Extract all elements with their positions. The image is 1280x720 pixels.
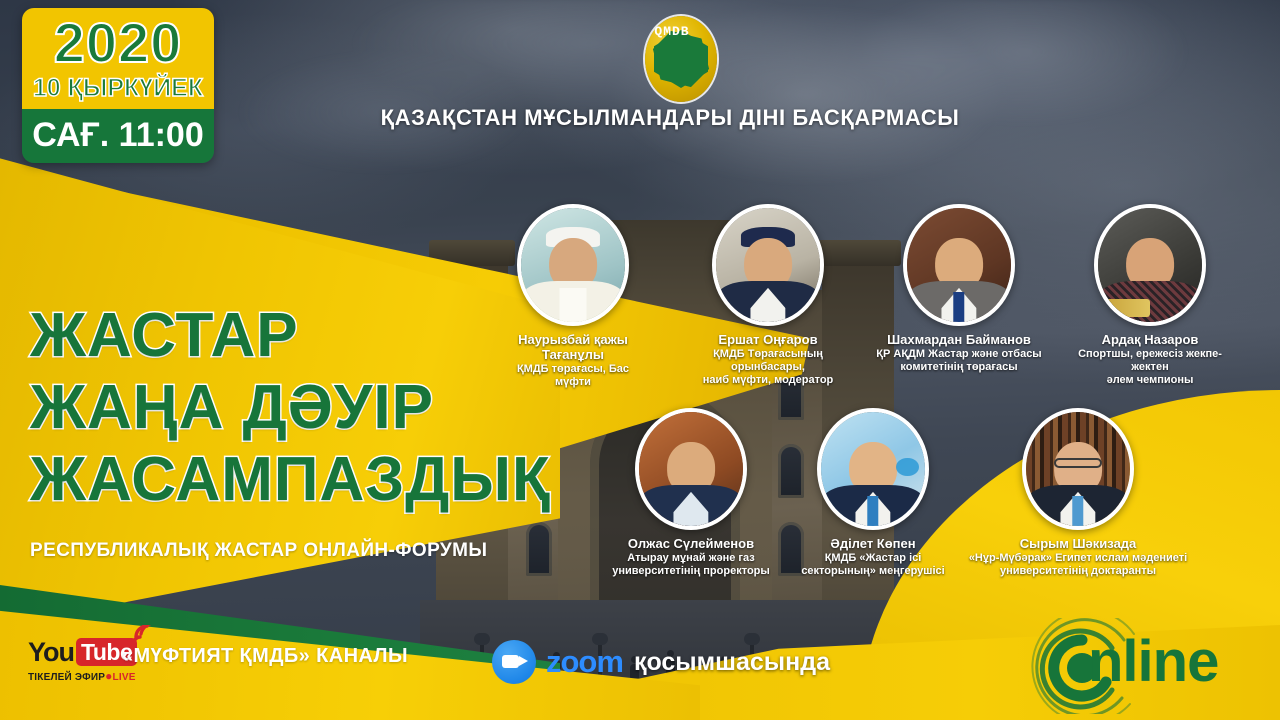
speaker-role: ҚМДБ «Жастар ісі <box>794 552 952 565</box>
speaker-name: Әділет Көпен <box>794 536 952 551</box>
speaker-name: Наурызбай қажы <box>505 332 641 347</box>
event-time: САҒ. 11:00 <box>22 109 214 161</box>
live-broadcast-icon <box>132 625 154 645</box>
headline-line-2: ЖАҢА ДӘУІР <box>30 377 530 439</box>
speaker-role-2: университетінің доктаранты <box>960 565 1196 578</box>
live-text-en: LIVE <box>113 672 136 683</box>
speaker-card: Ершат Оңғаров ҚМДБ Төрағасының орынбасар… <box>688 204 848 387</box>
speaker-name: Ардақ Назаров <box>1065 332 1235 347</box>
speaker-name: Ершат Оңғаров <box>688 332 848 347</box>
speaker-name-2: Тағанұлы <box>505 347 641 362</box>
speaker-card: Ардақ Назаров Спортшы, ережесіз жекпе-же… <box>1065 204 1235 387</box>
avatar <box>903 204 1015 326</box>
zoom-logo-block[interactable]: zoom қосымшасында <box>492 640 830 684</box>
qmdb-logo-icon: QMDB <box>645 16 717 102</box>
speaker-role: ҚР АҚДМ Жастар және отбасы <box>876 348 1042 361</box>
speaker-role-2: наиб мүфти, модератор <box>688 374 848 387</box>
speaker-role: «Нұр-Мүбәрак» Египет ислам мәдениеті <box>960 552 1196 565</box>
avatar <box>1094 204 1206 326</box>
speaker-role: Атырау мұнай және газ <box>608 552 774 565</box>
event-year: 2020 <box>22 12 214 74</box>
headline-subtitle: РЕСПУБЛИКАЛЫҚ ЖАСТАР ОНЛАЙН-ФОРУМЫ <box>30 540 550 562</box>
speaker-card: Шахмардан Байманов ҚР АҚДМ Жастар және о… <box>876 204 1042 374</box>
online-logo-block: nline <box>1026 618 1262 714</box>
avatar <box>635 408 747 530</box>
headline-block: ЖАСТАР ЖАҢА ДӘУІР ЖАСАМПАЗДЫҚ <box>30 305 530 523</box>
speaker-role-2: секторының» меңгерушісі <box>794 565 952 578</box>
speaker-role-2: әлем чемпионы <box>1065 374 1235 387</box>
speaker-role: ҚМДБ төрағасы, Бас мүфти <box>505 363 641 389</box>
zoom-camera-icon <box>492 640 536 684</box>
speaker-card: Олжас Сүлейменов Атырау мұнай және газ у… <box>608 408 774 578</box>
speaker-card: Сырым Шәкизада «Нұр-Мүбәрак» Египет исла… <box>960 408 1196 578</box>
zoom-suffix-label: қосымшасында <box>634 648 830 677</box>
speaker-role: ҚМДБ Төрағасының орынбасары, <box>688 348 848 374</box>
speaker-role-2: комитетінің төрағасы <box>876 361 1042 374</box>
live-text-kk: ТІКЕЛЕЙ ЭФИР <box>28 672 105 683</box>
speaker-name: Сырым Шәкизада <box>960 536 1196 551</box>
date-badge-bottom: САҒ. 11:00 <box>22 109 214 163</box>
speaker-card: Әділет Көпен ҚМДБ «Жастар ісі секторының… <box>794 408 952 578</box>
event-date-badge: 2020 10 ҚЫРКҮЙЕК САҒ. 11:00 <box>22 8 214 163</box>
headline-line-3: ЖАСАМПАЗДЫҚ <box>30 449 530 511</box>
youtube-you-text: You <box>28 639 74 666</box>
avatar <box>517 204 629 326</box>
qmdb-logo-monogram: QMDB <box>645 25 699 39</box>
avatar <box>712 204 824 326</box>
avatar <box>1022 408 1134 530</box>
youtube-live-label: ТІКЕЛЕЙ ЭФИР●LIVE <box>28 669 138 683</box>
avatar <box>817 408 929 530</box>
youtube-channel-name: «МҮФТИЯТ ҚМДБ» КАНАЛЫ <box>122 645 408 668</box>
speaker-name: Шахмардан Байманов <box>876 332 1042 347</box>
speaker-role: Спортшы, ережесіз жекпе-жектен <box>1065 348 1235 374</box>
zoom-wordmark: zoom <box>546 645 623 679</box>
live-dot: ● <box>105 669 112 683</box>
poster-root: 2020 10 ҚЫРКҮЙЕК САҒ. 11:00 QMDB ҚАЗАҚСТ… <box>0 0 1280 720</box>
online-wordmark: nline <box>1088 630 1218 694</box>
headline-line-1: ЖАСТАР <box>30 305 530 367</box>
organization-name: ҚАЗАҚСТАН МҰСЫЛМАНДАРЫ ДІНІ БАСҚАРМАСЫ <box>340 105 1000 131</box>
speaker-card: Наурызбай қажы Тағанұлы ҚМДБ төрағасы, Б… <box>505 204 641 389</box>
speaker-role-2: университетінің проректоры <box>608 565 774 578</box>
event-day: 10 ҚЫРКҮЙЕК <box>22 74 214 102</box>
speaker-name: Олжас Сүлейменов <box>608 536 774 551</box>
date-badge-top: 2020 10 ҚЫРКҮЙЕК <box>22 8 214 109</box>
